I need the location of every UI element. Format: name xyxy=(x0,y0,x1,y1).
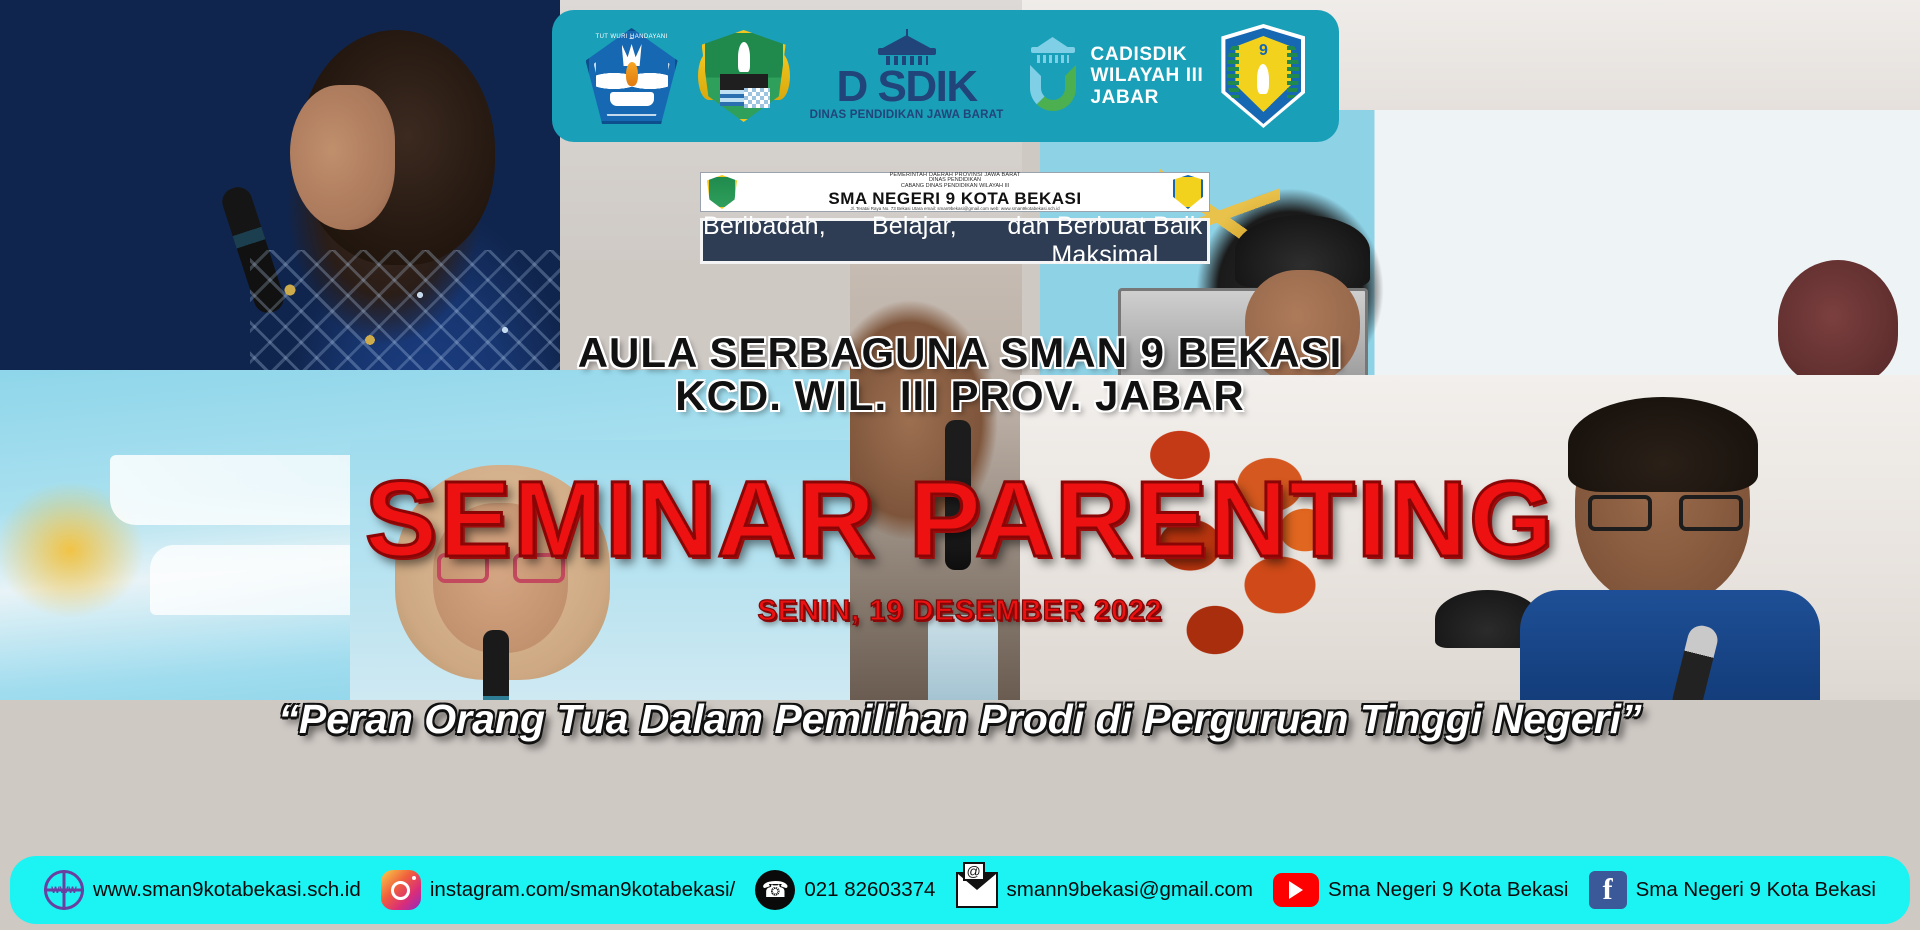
sman9-number: 9 xyxy=(1221,42,1305,60)
cadisdik-line3: JABAR xyxy=(1091,87,1204,108)
motto-word-1: Beribadah, xyxy=(703,212,826,270)
cadisdik-line1: CADISDIK xyxy=(1091,44,1204,65)
sman9-crest-icon: 9 xyxy=(1221,24,1305,128)
venue-line-2: KCD. WIL. III PROV. JABAR xyxy=(0,375,1920,418)
motto-word-3: dan Berbuat Baik Maksimal xyxy=(1003,212,1207,270)
email-label: smann9bekasi@gmail.com xyxy=(1007,878,1253,902)
contact-youtube[interactable]: Sma Negeri 9 Kota Bekasi xyxy=(1273,873,1568,907)
instagram-label: instagram.com/sman9kotabekasi/ xyxy=(430,878,735,902)
event-date: SENIN, 19 DESEMBER 2022 xyxy=(0,595,1920,628)
tutwuri-motto-text: TUT WURI HANDAYANI xyxy=(586,34,678,40)
contact-website[interactable]: WWW www.sman9kotabekasi.sch.id xyxy=(44,870,361,910)
phone-icon: ☎ xyxy=(755,870,795,910)
facebook-label: Sma Negeri 9 Kota Bekasi xyxy=(1636,878,1876,902)
government-building-icon xyxy=(864,31,950,65)
disdik-wordmark: DISDIK xyxy=(836,66,976,108)
poster-main-title: SEMINAR PARENTING xyxy=(0,465,1920,573)
envelope-email-icon xyxy=(956,872,998,908)
youtube-icon xyxy=(1273,873,1319,907)
contact-instagram[interactable]: instagram.com/sman9kotabekasi/ xyxy=(381,870,735,910)
contact-email[interactable]: smann9bekasi@gmail.com xyxy=(956,872,1253,908)
contact-phone[interactable]: ☎ 021 82603374 xyxy=(755,870,935,910)
cadisdik-u-icon xyxy=(1022,37,1084,115)
website-label: www.sman9kotabekasi.sch.id xyxy=(93,878,361,902)
venue-text-block: AULA SERBAGUNA SMAN 9 BEKASI KCD. WIL. I… xyxy=(0,332,1920,418)
contact-facebook[interactable]: f Sma Negeri 9 Kota Bekasi xyxy=(1589,871,1876,909)
school-letterhead: PEMERINTAH DAERAH PROVINSI JAWA BARAT DI… xyxy=(700,172,1210,212)
tut-wuri-handayani-logo-icon: TUT WURI HANDAYANI xyxy=(586,28,678,124)
face-shape xyxy=(290,85,395,230)
cadisdik-text: CADISDIK WILAYAH III JABAR xyxy=(1091,44,1204,108)
microphone-icon xyxy=(483,630,509,700)
venue-line-1: AULA SERBAGUNA SMAN 9 BEKASI xyxy=(0,332,1920,375)
school-motto-banner: Beribadah, Belajar, dan Berbuat Baik Mak… xyxy=(700,218,1210,264)
cadisdik-line2: WILAYAH III xyxy=(1091,65,1204,86)
cadisdik-logo: CADISDIK WILAYAH III JABAR xyxy=(1022,37,1204,115)
letterhead-school-name: SMA NEGERI 9 KOTA BEKASI xyxy=(743,190,1167,207)
sman9-mini-crest-icon xyxy=(1173,175,1203,209)
instagram-icon xyxy=(381,870,421,910)
facebook-icon: f xyxy=(1589,871,1627,909)
poster-subtitle-quote: “Peran Orang Tua Dalam Pemilihan Prodi d… xyxy=(0,696,1920,743)
globe-www-icon: WWW xyxy=(44,870,84,910)
youtube-label: Sma Negeri 9 Kota Bekasi xyxy=(1328,878,1568,902)
disdik-subtitle: DINAS PENDIDIKAN JAWA BARAT xyxy=(810,109,1004,121)
jawa-barat-crest-icon xyxy=(696,26,792,126)
phone-label: 021 82603374 xyxy=(804,878,935,902)
disdik-logo: DISDIK DINAS PENDIDIKAN JAWA BARAT xyxy=(810,31,1004,121)
letterhead-address: Jl. Teratai Raya No. 73 Bekasi Utara ema… xyxy=(743,207,1167,212)
seminar-poster: TUT WURI HANDAYANI DISDIK DINAS PENDIDIK… xyxy=(0,0,1920,930)
jabar-mini-crest-icon xyxy=(707,175,737,209)
institution-logo-bar: TUT WURI HANDAYANI DISDIK DINAS PENDIDIK… xyxy=(552,10,1339,142)
contact-footer-bar: WWW www.sman9kotabekasi.sch.id instagram… xyxy=(10,856,1910,924)
motto-word-2: Belajar, xyxy=(872,212,957,270)
